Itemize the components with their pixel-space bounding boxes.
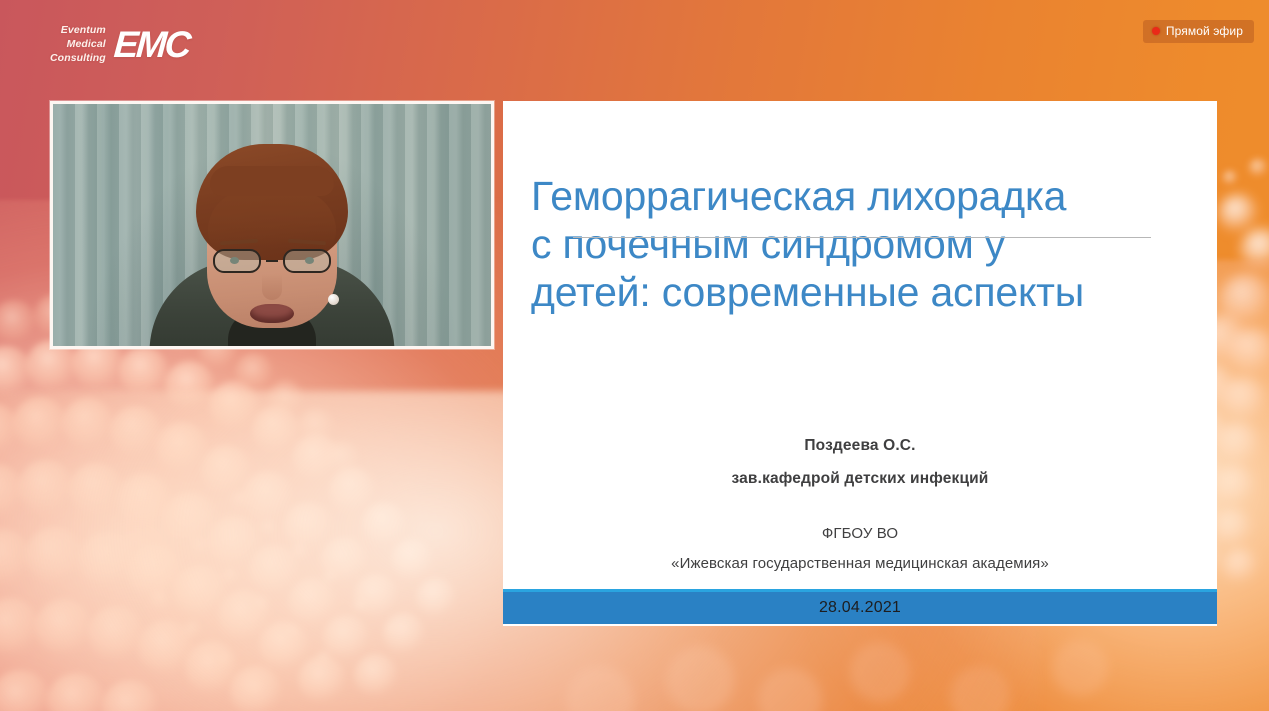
live-dot-icon [1152,27,1160,35]
speaker-video-feed [53,104,491,346]
live-badge[interactable]: Прямой эфир [1143,20,1254,43]
glasses-lens-right [283,249,331,273]
logo-line-eventum: Eventum [61,24,106,38]
speaker-mouth [250,304,294,323]
glasses-bridge [266,260,278,263]
slide-title: Геморрагическая лихорадка с почечным син… [531,173,1191,317]
slide-date-bar: 28.04.2021 [503,589,1217,626]
slide-date: 28.04.2021 [819,599,901,617]
speaker-earring [328,294,339,305]
logo-line-consulting: Consulting [50,52,106,66]
speaker-fringe [210,166,334,196]
organization-name: «Ижевская государственная медицинская ак… [503,555,1217,572]
presentation-slide[interactable]: Геморрагическая лихорадка с почечным син… [503,101,1217,626]
speaker-nose [262,274,282,300]
organization-block: ФГБОУ ВО «Ижевская государственная медиц… [503,525,1217,572]
live-badge-label: Прямой эфир [1166,24,1243,38]
speaker-video-panel[interactable] [50,101,494,349]
logo-wordmark: Eventum Medical Consulting [50,24,106,66]
author-block: Поздеева О.С. зав.кафедрой детских инфек… [503,437,1217,488]
glasses-lens-left [213,249,261,273]
author-name: Поздеева О.С. [503,437,1217,455]
stream-viewport: Eventum Medical Consulting EMC Прямой эф… [0,0,1269,711]
title-underline-rule [573,237,1151,238]
organization-type: ФГБОУ ВО [503,525,1217,542]
logo-emc-mark: EMC [113,26,191,63]
logo-line-medical: Medical [67,38,106,52]
author-role: зав.кафедрой детских инфекций [503,470,1217,488]
speaker-glasses [213,248,331,274]
emc-logo: Eventum Medical Consulting EMC [50,24,189,66]
